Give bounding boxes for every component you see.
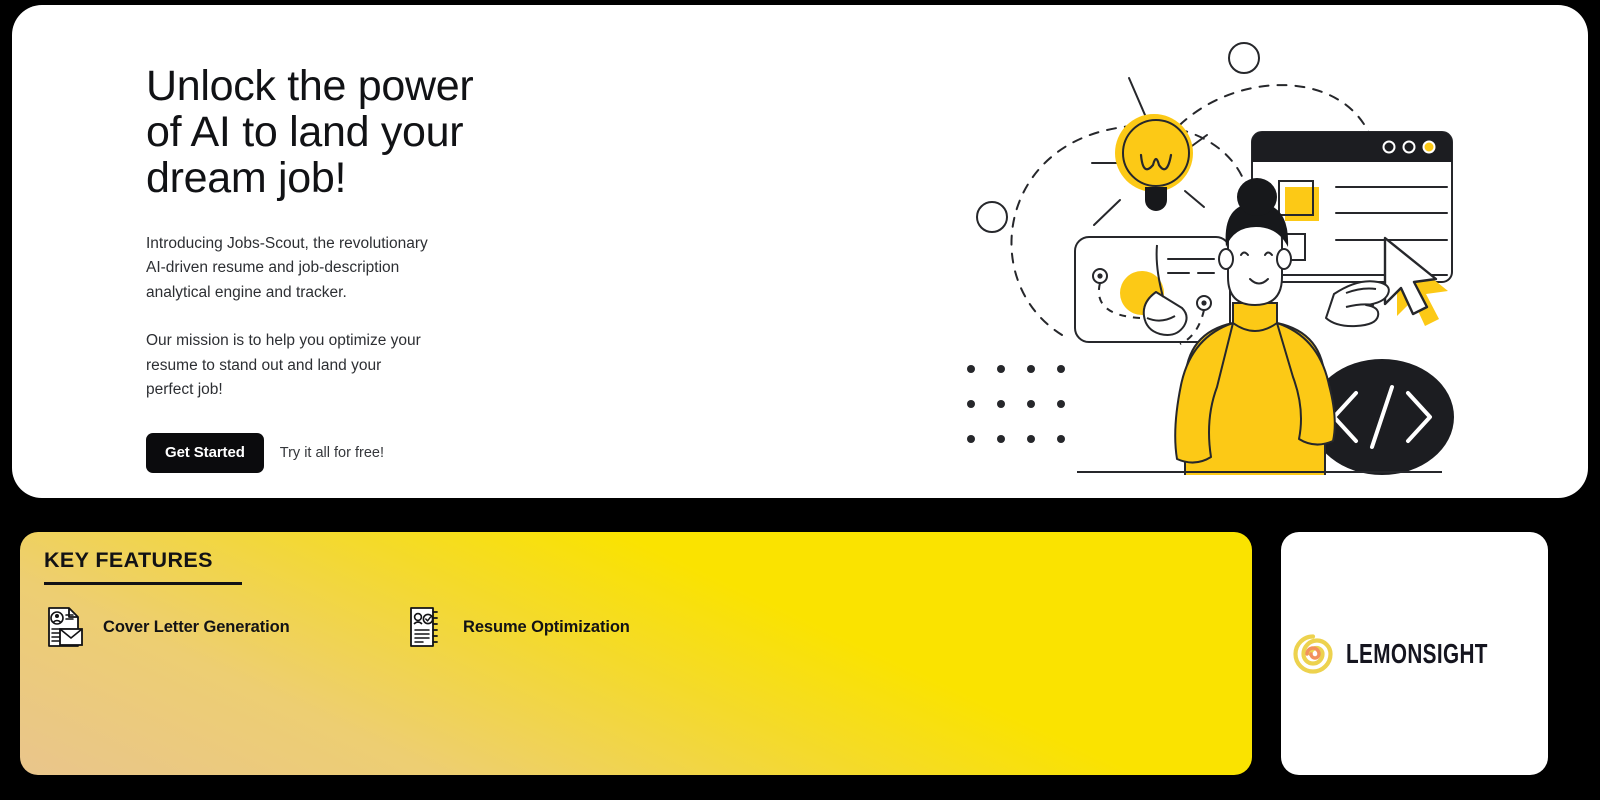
feature-list: Cover Letter Generation Resume Optimizat… [44,605,630,649]
get-started-button[interactable]: Get Started [146,433,264,473]
lemon-swirl-logo-icon [1292,633,1334,675]
feature-label: Cover Letter Generation [103,618,290,637]
resume-check-icon [404,605,444,649]
brand-logo-card: LEMONSIGHT [1281,532,1548,775]
key-features-title: KEY FEATURES [44,548,242,573]
heading-underline [44,582,242,585]
free-trial-note: Try it all for free! [280,445,384,461]
brand-wordmark: LEMONSIGHT [1346,638,1488,670]
hero-paragraph-1: Introducing Jobs-Scout, the revolutionar… [146,232,576,305]
page-root: Unlock the power of AI to land your drea… [0,0,1600,800]
feature-item-cover-letter[interactable]: Cover Letter Generation [44,605,404,649]
document-envelope-icon [44,605,84,649]
feature-label: Resume Optimization [463,618,630,637]
hero-paragraph-2: Our mission is to help you optimize your… [146,329,576,402]
hero-copy-block: Unlock the power of AI to land your drea… [146,63,576,473]
key-features-heading-block: KEY FEATURES [44,548,242,585]
page-title: Unlock the power of AI to land your drea… [146,63,576,201]
feature-item-resume-optimization[interactable]: Resume Optimization [404,605,630,649]
hero-card: Unlock the power of AI to land your drea… [12,5,1588,498]
ai-job-search-illustration [942,35,1462,485]
cta-row: Get Started Try it all for free! [146,433,576,473]
